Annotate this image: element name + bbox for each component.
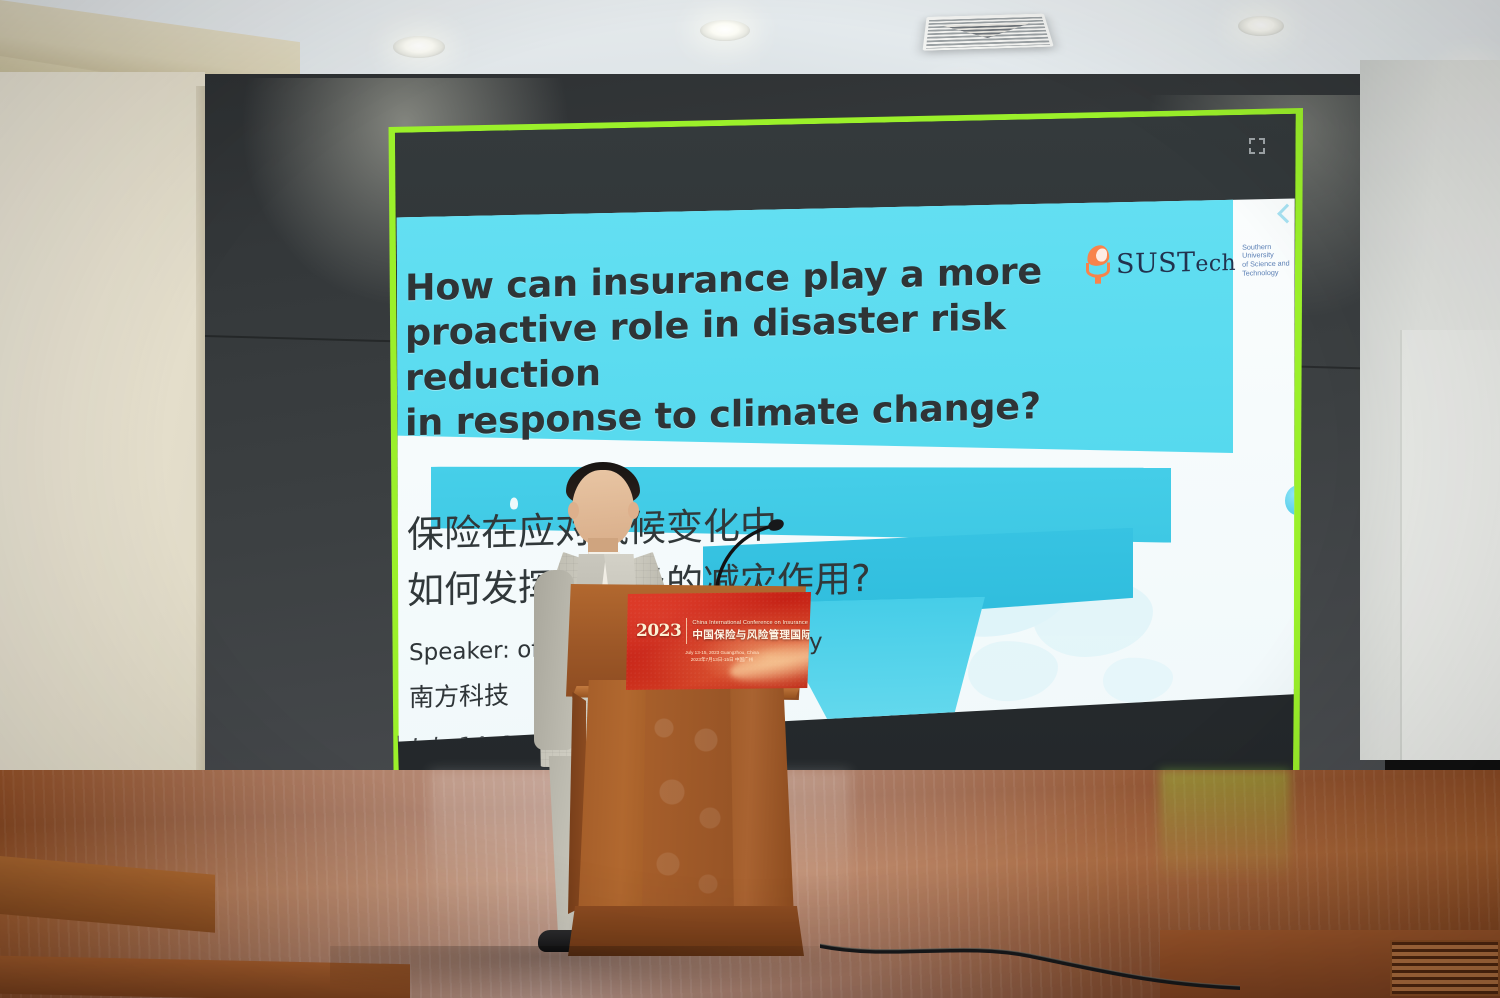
right-wall-panel — [1400, 330, 1500, 760]
banner-divider — [686, 618, 687, 644]
hvac-vent-icon — [923, 14, 1054, 51]
downlight-3 — [1238, 16, 1284, 36]
sustech-wordmark-tail: ech — [1195, 250, 1236, 276]
fullscreen-icon[interactable] — [1249, 138, 1265, 154]
page-badge[interactable]: 1 — [1285, 485, 1303, 516]
banner-detail: July 13-15, 2023 Guangzhou, China 2023年7… — [672, 650, 772, 663]
conference-banner: 2023 China International Conference on I… — [626, 592, 811, 690]
floor-vent-grille-icon — [1390, 940, 1500, 996]
podium-floor-shadow — [330, 946, 890, 998]
floor-reflection-screen-green — [1160, 770, 1290, 920]
sustech-logo-subtitle: Southern University of Science and Techn… — [1242, 242, 1298, 278]
downlight-2 — [700, 20, 750, 41]
podium-carved-panel — [642, 688, 734, 914]
banner-title-chinese: 中国保险与风险管理国际年会 — [692, 627, 811, 642]
banner-detail-chinese: 2023年7月13日-15日 中国广州 — [672, 657, 772, 664]
downlight-1 — [393, 36, 445, 58]
banner-detail-english: July 13-15, 2023 Guangzhou, China — [672, 650, 772, 657]
chevron-left-icon[interactable] — [1275, 201, 1293, 225]
speaker-ear-right — [628, 502, 639, 519]
sustech-wordmark-main: SUST — [1116, 247, 1195, 280]
sustech-logo: SUSTech Southern University of Science a… — [1083, 235, 1298, 289]
sustech-torch-icon — [1083, 245, 1110, 284]
speaker-head — [572, 470, 634, 546]
banner-title-row: 2023 China International Conference on I… — [636, 618, 811, 644]
speaker-ear-left — [568, 502, 579, 519]
auditorium-scene: How can insurance play a more proactive … — [0, 0, 1500, 998]
banner-year: 2023 — [636, 621, 681, 641]
podium: 2023 China International Conference on I… — [556, 584, 811, 974]
banner-title-english: China International Conference on Insura… — [692, 620, 811, 626]
sustech-wordmark: SUSTech — [1116, 245, 1236, 279]
sustech-subtitle-line-3: Technology — [1242, 268, 1298, 278]
